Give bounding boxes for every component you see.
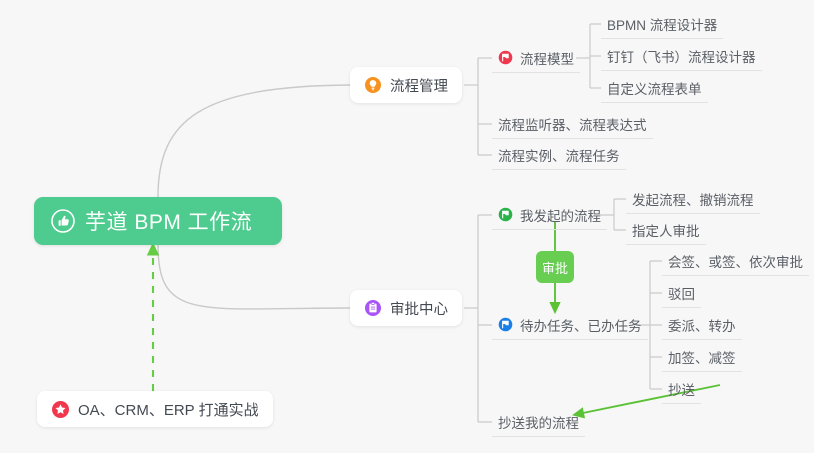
floating-node-integration[interactable]: OA、CRM、ERP 打通实战 — [37, 391, 273, 427]
node-instance-task[interactable]: 流程实例、流程任务 — [492, 140, 626, 170]
node-listener-expression[interactable]: 流程监听器、流程表达式 — [492, 109, 653, 139]
node-zhidingren-shenpi-label: 指定人审批 — [632, 220, 700, 240]
flag-icon — [498, 207, 513, 222]
node-liuchengmoxing-label: 流程模型 — [520, 48, 574, 68]
flag-icon — [498, 317, 513, 332]
node-chaosongwodeliucheng-label: 抄送我的流程 — [498, 412, 579, 432]
connector-root-to-shenpizhongxin — [158, 245, 350, 309]
node-bohui[interactable]: 驳回 — [662, 278, 701, 308]
node-chaosongwodeliucheng[interactable]: 抄送我的流程 — [492, 407, 585, 437]
node-daiban-yiban[interactable]: 待办任务、已办任务 — [492, 310, 648, 340]
root-node-label: 芋道 BPM 工作流 — [85, 206, 252, 236]
node-weipai-zhuanban[interactable]: 委派、转办 — [662, 310, 742, 340]
connector-root-to-liuchengguanli — [158, 85, 350, 197]
floating-node-integration-label: OA、CRM、ERP 打通实战 — [78, 399, 259, 420]
node-daiban-yiban-label: 待办任务、已办任务 — [520, 315, 642, 335]
star-icon — [51, 400, 70, 419]
mindmap-canvas: 芋道 BPM 工作流 流程管理 流程模型 BPMN 流程设计器 钉钉（飞书）流程 — [0, 0, 814, 453]
flag-icon — [498, 50, 513, 65]
node-chaosong[interactable]: 抄送 — [662, 374, 701, 404]
node-bpmn-designer[interactable]: BPMN 流程设计器 — [601, 9, 723, 39]
node-zhidingren-shenpi[interactable]: 指定人审批 — [626, 215, 706, 245]
node-weipai-zhuanban-label: 委派、转办 — [668, 315, 736, 335]
clipboard-icon — [364, 299, 382, 317]
node-bohui-label: 驳回 — [668, 283, 695, 303]
annotation-tag-shenpi[interactable]: 审批 — [536, 251, 574, 283]
node-liuchengmoxing[interactable]: 流程模型 — [492, 43, 580, 73]
node-huiqian-huoqian-label: 会签、或签、依次审批 — [668, 251, 803, 271]
node-faqi-chexiao[interactable]: 发起流程、撤销流程 — [626, 184, 760, 214]
node-wofaqideliucheng[interactable]: 我发起的流程 — [492, 200, 607, 230]
node-custom-form[interactable]: 自定义流程表单 — [601, 73, 708, 103]
lightbulb-icon — [364, 76, 382, 94]
annotation-tag-shenpi-label: 审批 — [542, 258, 568, 277]
root-node[interactable]: 芋道 BPM 工作流 — [34, 197, 282, 245]
node-huiqian-huoqian[interactable]: 会签、或签、依次审批 — [662, 246, 809, 276]
branch-node-shenpizhongxin[interactable]: 审批中心 — [350, 290, 462, 326]
node-bpmn-designer-label: BPMN 流程设计器 — [607, 14, 717, 34]
branch-node-liuchengguanli-label: 流程管理 — [390, 75, 448, 96]
node-faqi-chexiao-label: 发起流程、撤销流程 — [632, 189, 754, 209]
node-listener-expression-label: 流程监听器、流程表达式 — [498, 114, 647, 134]
branch-node-shenpizhongxin-label: 审批中心 — [390, 298, 448, 319]
node-custom-form-label: 自定义流程表单 — [607, 78, 702, 98]
node-wofaqideliucheng-label: 我发起的流程 — [520, 205, 601, 225]
node-dingtalk-designer[interactable]: 钉钉（飞书）流程设计器 — [601, 41, 762, 71]
thumbs-up-icon — [51, 209, 75, 233]
node-chaosong-label: 抄送 — [668, 379, 695, 399]
node-instance-task-label: 流程实例、流程任务 — [498, 145, 620, 165]
node-dingtalk-designer-label: 钉钉（飞书）流程设计器 — [607, 46, 756, 66]
node-jiaqian-jianqian[interactable]: 加签、减签 — [662, 342, 742, 372]
node-jiaqian-jianqian-label: 加签、减签 — [668, 347, 736, 367]
branch-node-liuchengguanli[interactable]: 流程管理 — [350, 67, 462, 103]
